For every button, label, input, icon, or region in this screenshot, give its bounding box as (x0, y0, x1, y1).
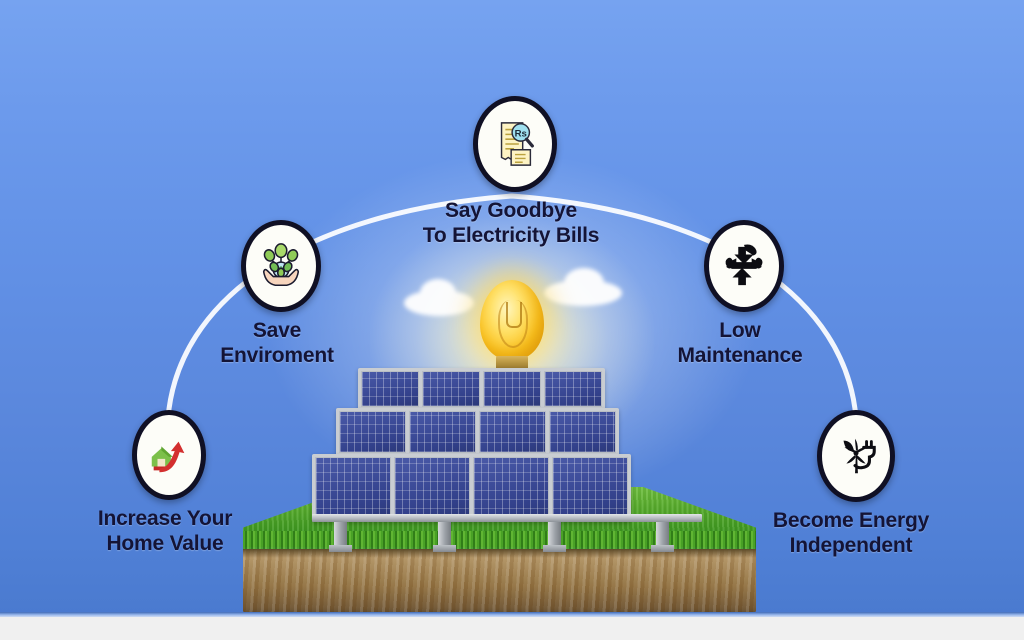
solar-panel (361, 371, 419, 407)
solar-panel (549, 411, 616, 453)
solar-panel-array (312, 368, 702, 540)
panel-row-front (312, 454, 631, 522)
rupee-label: Rs (515, 128, 527, 139)
infographic-canvas: Increase Your Home Value (0, 0, 1024, 640)
benefit-label-line-2: Enviroment (179, 343, 375, 368)
mounting-leg (656, 522, 669, 552)
benefit-label-line-1: Save (179, 318, 375, 343)
electricity-bill-magnifier-rupee-icon[interactable]: Rs (473, 96, 557, 192)
solar-panel (339, 411, 406, 453)
solar-panel (479, 411, 546, 453)
benefit-label: Increase Your Home Value (60, 506, 270, 556)
benefit-label-line-1: Increase Your (60, 506, 270, 531)
benefit-label-line-1: Become Energy (745, 508, 957, 533)
benefit-label-line-1: Low (642, 318, 838, 343)
solar-panel (552, 457, 628, 519)
panel-row-middle (336, 408, 619, 456)
benefit-label-line-2: To Electricity Bills (358, 223, 664, 248)
hands-holding-plant-earth-icon[interactable] (241, 220, 321, 312)
solar-panel (409, 411, 476, 453)
solar-panel (544, 371, 602, 407)
benefit-label: Low Maintenance (642, 318, 838, 368)
benefit-label-line-2: Home Value (60, 531, 270, 556)
mounting-leg (548, 522, 561, 552)
benefit-label: Become Energy Independent (745, 508, 957, 558)
cloud-left (404, 290, 474, 316)
mounting-leg (438, 522, 451, 552)
benefit-label-line-1: Say Goodbye (358, 198, 664, 223)
bottom-white-margin (0, 617, 1024, 640)
benefit-label: Save Enviroment (179, 318, 375, 368)
bulb-filament (506, 302, 522, 328)
house-with-rising-arrow-icon[interactable] (132, 410, 206, 500)
solar-panel (422, 371, 480, 407)
benefit-label-line-2: Maintenance (642, 343, 838, 368)
solar-panel (394, 457, 470, 519)
panel-row-back (358, 368, 605, 410)
solar-panel (315, 457, 391, 519)
benefit-label: Say Goodbye To Electricity Bills (358, 198, 664, 248)
cloud-right (544, 280, 622, 306)
leaf-wind-turbine-plug-icon[interactable] (817, 410, 895, 502)
mounting-rail (312, 514, 702, 522)
solar-panel (483, 371, 541, 407)
wrench-hammer-arrows-icon[interactable] (704, 220, 784, 312)
solar-panel (473, 457, 549, 519)
bulb-glass (480, 280, 544, 360)
mounting-leg (334, 522, 347, 552)
soil-cross-section (243, 549, 756, 617)
benefit-label-line-2: Independent (745, 533, 957, 558)
